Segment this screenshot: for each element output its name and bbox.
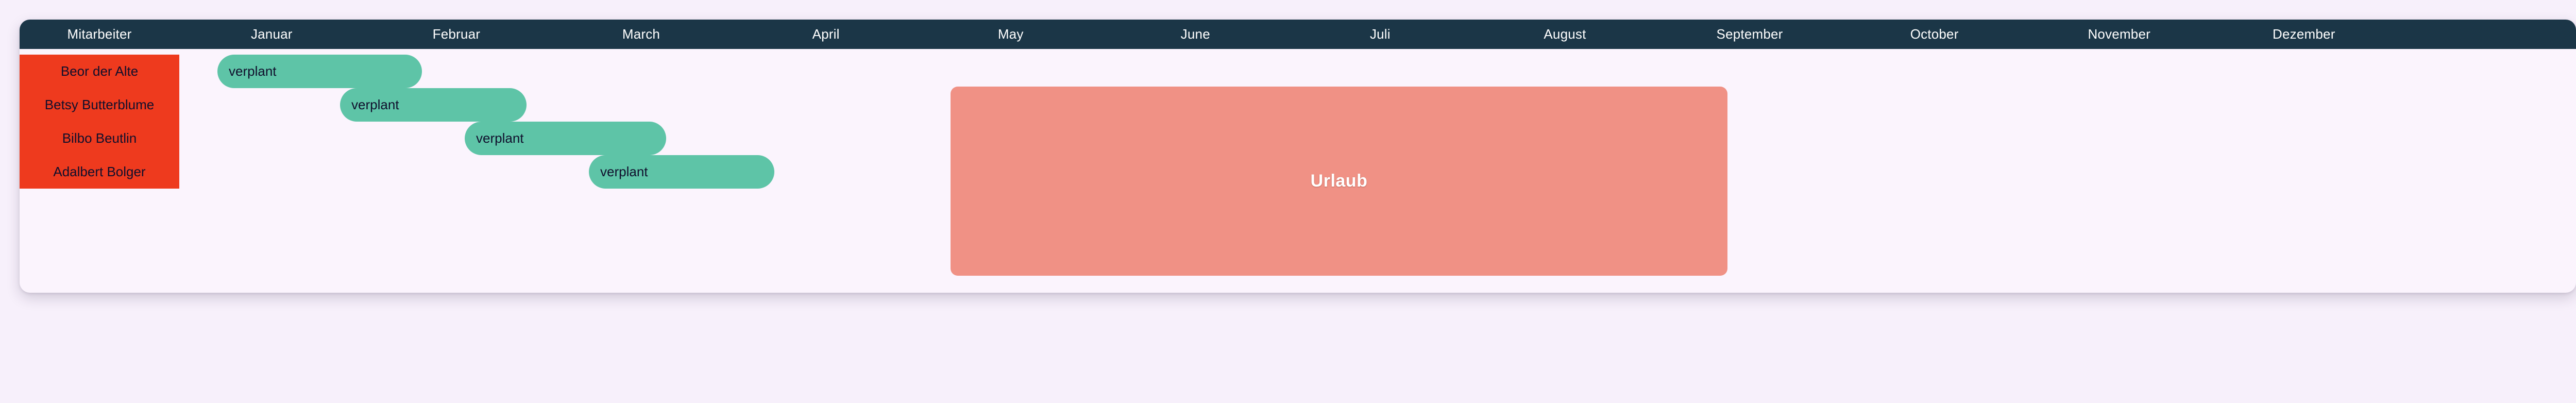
timeline-header: Mitarbeiter Januar Februar March April M… <box>20 20 2576 49</box>
task-bar-1[interactable]: verplant <box>340 88 527 122</box>
task-bar-2[interactable]: verplant <box>465 122 666 155</box>
timeline-body: Beor der Alte verplant Betsy Butterblume… <box>20 49 2576 293</box>
header-employee-column[interactable]: Mitarbeiter <box>20 20 179 49</box>
header-month-june[interactable]: June <box>1103 20 1288 49</box>
header-month-april[interactable]: April <box>734 20 919 49</box>
header-month-januar[interactable]: Januar <box>179 20 364 49</box>
header-month-november[interactable]: November <box>2027 20 2212 49</box>
vacation-overlay[interactable]: Urlaub <box>951 87 1727 276</box>
header-month-februar[interactable]: Februar <box>364 20 549 49</box>
employee-chip-3[interactable]: Adalbert Bolger <box>20 155 179 189</box>
employee-chip-2[interactable]: Bilbo Beutlin <box>20 122 179 155</box>
header-month-october[interactable]: October <box>1842 20 2027 49</box>
employee-chip-1[interactable]: Betsy Butterblume <box>20 88 179 122</box>
gantt-page: Mitarbeiter Januar Februar March April M… <box>0 0 2576 403</box>
header-month-dezember[interactable]: Dezember <box>2212 20 2397 49</box>
task-bar-3[interactable]: verplant <box>589 155 774 189</box>
task-bar-0[interactable]: verplant <box>217 55 422 88</box>
table-row: Beor der Alte verplant <box>20 55 2576 88</box>
vacation-label: Urlaub <box>1311 171 1368 191</box>
gantt-card: Mitarbeiter Januar Februar March April M… <box>20 20 2576 293</box>
header-month-august[interactable]: August <box>1472 20 1657 49</box>
employee-chip-0[interactable]: Beor der Alte <box>20 55 179 88</box>
header-month-juli[interactable]: Juli <box>1288 20 1473 49</box>
header-month-september[interactable]: September <box>1657 20 1842 49</box>
header-month-march[interactable]: March <box>549 20 734 49</box>
header-month-may[interactable]: May <box>918 20 1103 49</box>
